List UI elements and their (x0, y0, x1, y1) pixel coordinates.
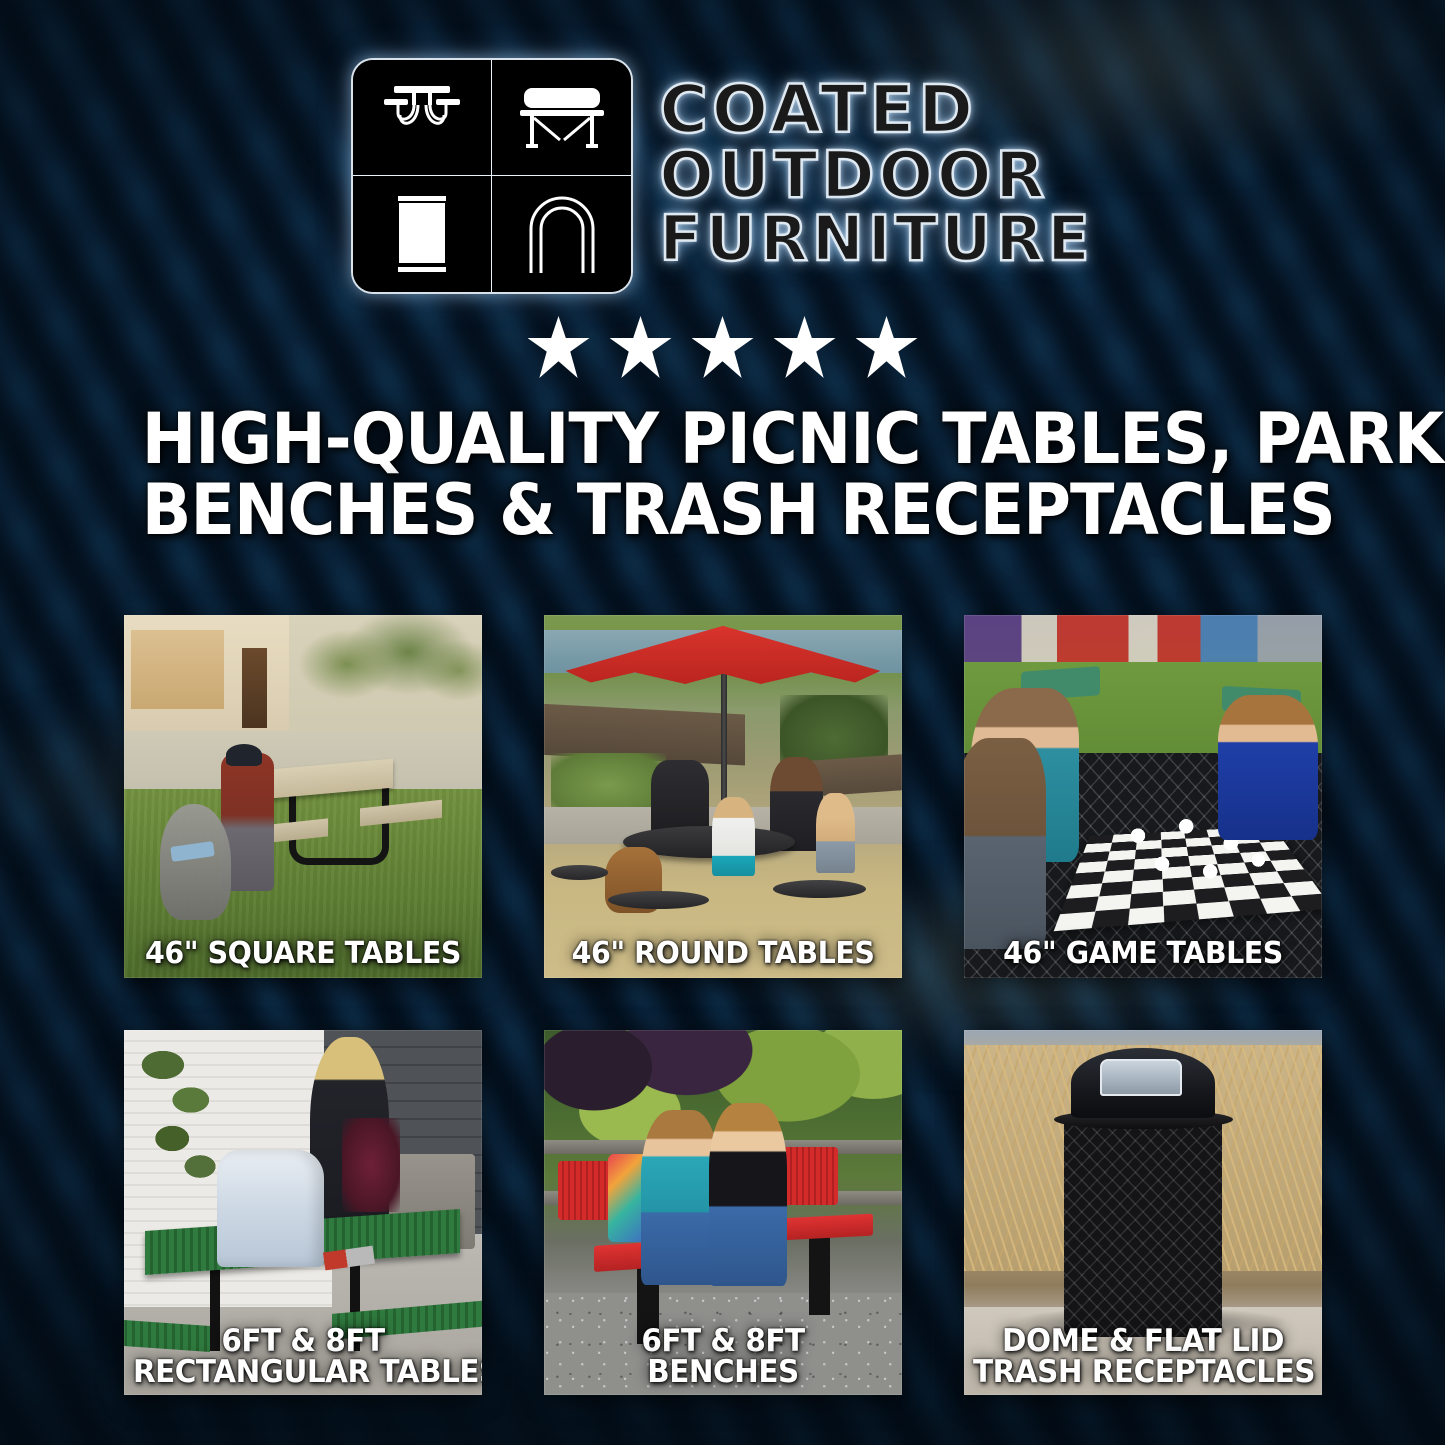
gallery-caption: 6FT & 8FT BENCHES (553, 1326, 893, 1389)
gallery-item-rectangular-tables[interactable]: 6FT & 8FT RECTANGULAR TABLES (124, 1030, 482, 1395)
caption-line-1: 46" ROUND TABLES (553, 939, 893, 970)
poster-content: COATED OUTDOOR FURNITURE HIGH-QUALITY PI… (0, 0, 1445, 1445)
gallery-caption: 46" SQUARE TABLES (133, 939, 473, 970)
photo-square-tables (124, 615, 482, 978)
headline: HIGH-QUALITY PICNIC TABLES, PARK BENCHES… (141, 404, 1304, 547)
gallery-caption: 46" GAME TABLES (973, 939, 1313, 970)
brand-name-line-2: OUTDOOR (659, 145, 1093, 208)
caption-line-1: 6FT & 8FT (553, 1326, 893, 1358)
brand-name-line-3: FURNITURE (659, 209, 1093, 270)
star-icon-5 (856, 316, 918, 378)
brand-name: COATED OUTDOOR FURNITURE (659, 78, 1093, 274)
headline-line-2: BENCHES & TRASH RECEPTACLES (141, 475, 1304, 546)
gallery-caption: 46" ROUND TABLES (553, 939, 893, 970)
gallery-caption: 6FT & 8FT RECTANGULAR TABLES (133, 1326, 473, 1389)
star-rating (0, 316, 1445, 378)
gallery-item-game-tables[interactable]: 46" GAME TABLES (964, 615, 1322, 978)
caption-line-2: TRASH RECEPTACLES (973, 1357, 1313, 1389)
star-icon-3 (692, 316, 754, 378)
photo-round-tables (544, 615, 902, 978)
picnic-table-icon (353, 60, 492, 176)
gallery-caption: DOME & FLAT LID TRASH RECEPTACLES (973, 1326, 1313, 1389)
caption-line-1: 46" SQUARE TABLES (133, 939, 473, 970)
poster-canvas: COATED OUTDOOR FURNITURE HIGH-QUALITY PI… (0, 0, 1445, 1445)
caption-line-2: RECTANGULAR TABLES (133, 1357, 473, 1389)
product-gallery: 46" SQUARE TABLES 46" RO (124, 615, 1324, 1395)
gallery-item-square-tables[interactable]: 46" SQUARE TABLES (124, 615, 482, 978)
gallery-item-benches[interactable]: 6FT & 8FT BENCHES (544, 1030, 902, 1395)
gallery-item-round-tables[interactable]: 46" ROUND TABLES (544, 615, 902, 978)
caption-line-2: BENCHES (553, 1357, 893, 1389)
gallery-item-trash-receptacles[interactable]: DOME & FLAT LID TRASH RECEPTACLES (964, 1030, 1322, 1395)
bench-icon (492, 60, 631, 176)
photo-game-tables (964, 615, 1322, 978)
star-icon-2 (610, 316, 672, 378)
trash-receptacle-icon (353, 176, 492, 292)
star-icon-1 (528, 316, 590, 378)
headline-line-1: HIGH-QUALITY PICNIC TABLES, PARK (141, 404, 1304, 475)
bike-rack-icon (492, 176, 631, 292)
caption-line-1: 46" GAME TABLES (973, 939, 1313, 970)
brand-name-line-1: COATED (659, 78, 1093, 143)
caption-line-1: DOME & FLAT LID (973, 1326, 1313, 1358)
star-icon-4 (774, 316, 836, 378)
logo-icon-grid (351, 58, 633, 294)
brand-logo: COATED OUTDOOR FURNITURE (0, 0, 1445, 294)
caption-line-1: 6FT & 8FT (133, 1326, 473, 1358)
